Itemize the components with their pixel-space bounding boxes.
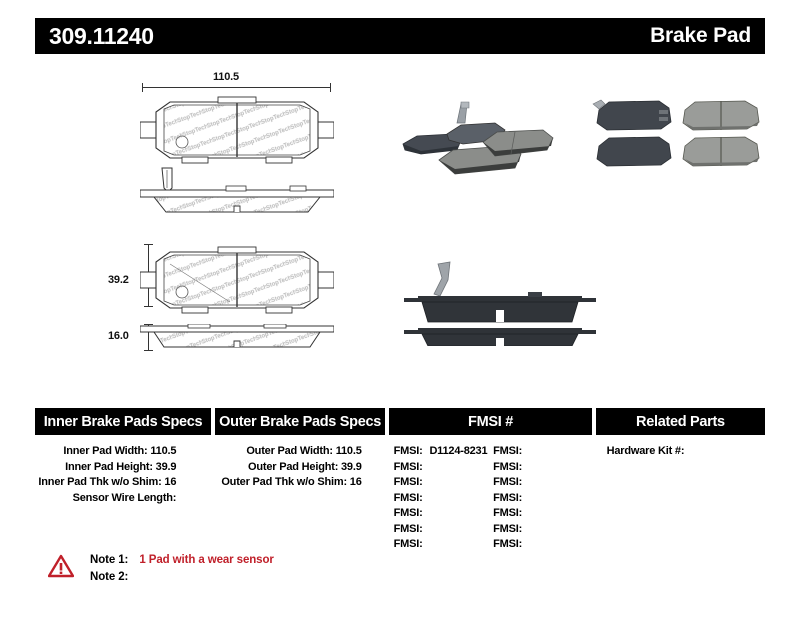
spec-label: Sensor Wire Length: xyxy=(73,492,177,504)
column-header-related-parts: Related Parts xyxy=(596,408,765,435)
fmsi-row: FMSI: D1124-8231 xyxy=(394,444,494,460)
spec-row-outer-pad-thickness: Outer Pad Thk w/o Shim: 16 xyxy=(214,475,383,491)
fmsi-label: FMSI: xyxy=(394,492,423,504)
fmsi-value xyxy=(522,523,526,535)
warning-triangle-icon xyxy=(48,554,74,578)
note-row-2: Note 2: xyxy=(90,569,274,586)
pad-side-view-with-sensor xyxy=(140,166,334,218)
brake-pad-set-angled-photo xyxy=(395,98,555,178)
fmsi-column-1: FMSI: D1124-8231 FMSI: FMSI: FMSI: xyxy=(394,444,494,553)
fmsi-value xyxy=(423,507,427,519)
note-list: Note 1: 1 Pad with a wear sensor Note 2: xyxy=(90,552,274,586)
pad-front-view xyxy=(140,244,334,318)
pad-thickness-view xyxy=(140,324,334,352)
fmsi-label: FMSI: xyxy=(394,507,423,519)
header-bar: 309.11240 Brake Pad xyxy=(35,18,765,54)
fmsi-row: FMSI: xyxy=(493,506,593,522)
fmsi-row: FMSI: xyxy=(394,460,494,476)
spec-value: 16 xyxy=(164,476,176,488)
note-value: 1 Pad with a wear sensor xyxy=(131,554,273,566)
fmsi-value xyxy=(522,538,526,550)
fmsi-row: FMSI: xyxy=(493,460,593,476)
fmsi-row: FMSI: xyxy=(493,444,593,460)
fmsi-label: FMSI: xyxy=(493,507,522,519)
fmsi-column-2: FMSI: FMSI: FMSI: FMSI: xyxy=(493,444,593,553)
fmsi-row: FMSI: xyxy=(493,522,593,538)
dimension-line-width xyxy=(142,87,330,88)
inner-specs-cell: Inner Pad Width: 110.5 Inner Pad Height:… xyxy=(35,444,210,553)
column-header-outer-specs: Outer Brake Pads Specs xyxy=(215,408,385,435)
fmsi-cell: FMSI: D1124-8231 FMSI: FMSI: FMSI: xyxy=(388,444,593,553)
fmsi-row: FMSI: xyxy=(493,475,593,491)
fmsi-label: FMSI: xyxy=(493,492,522,504)
fmsi-label: FMSI: xyxy=(394,538,423,550)
dimension-tick-left xyxy=(142,83,143,92)
spec-label: Inner Pad Width: xyxy=(63,445,147,457)
spec-value: 110.5 xyxy=(336,445,362,457)
fmsi-value xyxy=(423,461,427,473)
fmsi-columns: FMSI: D1124-8231 FMSI: FMSI: FMSI: xyxy=(388,444,593,553)
fmsi-row: FMSI: xyxy=(394,537,494,553)
spec-value: 39.9 xyxy=(341,461,362,473)
fmsi-row: FMSI: xyxy=(394,522,494,538)
figure-area: 110.5 StopTech xyxy=(0,58,800,388)
part-number: 309.11240 xyxy=(49,23,154,50)
spec-value: 39.9 xyxy=(156,461,177,473)
fmsi-value xyxy=(522,507,526,519)
fmsi-label: FMSI: xyxy=(493,445,522,457)
fmsi-label: FMSI: xyxy=(493,538,522,550)
spec-label: Outer Pad Width: xyxy=(246,445,333,457)
column-header-inner-specs: Inner Brake Pads Specs xyxy=(35,408,211,435)
note-label: Note 2: xyxy=(90,571,128,583)
dimension-label-height: 39.2 xyxy=(108,274,129,286)
fmsi-value xyxy=(522,476,526,488)
fmsi-value xyxy=(423,476,427,488)
note-label: Note 1: xyxy=(90,554,128,566)
spec-row-inner-pad-height: Inner Pad Height: 39.9 xyxy=(35,460,210,476)
spec-label: Outer Pad Height: xyxy=(248,461,338,473)
specifications-table: Inner Brake Pads Specs Outer Brake Pads … xyxy=(35,408,765,553)
fmsi-row: FMSI: xyxy=(493,491,593,507)
fmsi-value xyxy=(423,523,427,535)
spec-row-outer-pad-width: Outer Pad Width: 110.5 xyxy=(214,444,383,460)
spec-label: Outer Pad Thk w/o Shim: xyxy=(221,476,347,488)
inner-pad-top-view: StopTech xyxy=(140,94,334,168)
fmsi-value xyxy=(423,492,427,504)
brake-pad-pair-profile-photo xyxy=(400,254,600,346)
fmsi-label: FMSI: xyxy=(493,523,522,535)
note-row-1: Note 1: 1 Pad with a wear sensor xyxy=(90,552,274,569)
spec-label: Inner Pad Height: xyxy=(65,461,153,473)
fmsi-label: FMSI: xyxy=(394,445,423,457)
fmsi-row: FMSI: xyxy=(493,537,593,553)
fmsi-row: FMSI: xyxy=(394,475,494,491)
fmsi-label: FMSI: xyxy=(394,476,423,488)
fmsi-value xyxy=(522,461,526,473)
product-type-label: Brake Pad xyxy=(650,24,751,48)
spec-label: Inner Pad Thk w/o Shim: xyxy=(38,476,161,488)
note-value xyxy=(128,571,136,583)
notes-section: Note 1: 1 Pad with a wear sensor Note 2: xyxy=(48,552,274,586)
spec-row-sensor-wire-length: Sensor Wire Length: xyxy=(35,491,210,507)
column-header-fmsi: FMSI # xyxy=(389,408,592,435)
table-body-row: Inner Pad Width: 110.5 Inner Pad Height:… xyxy=(35,435,765,553)
fmsi-value xyxy=(522,492,526,504)
dimension-label-thickness: 16.0 xyxy=(108,330,129,342)
fmsi-label: FMSI: xyxy=(493,476,522,488)
related-parts-cell: Hardware Kit #: xyxy=(597,444,765,553)
fmsi-label: FMSI: xyxy=(394,461,423,473)
dimension-label-width: 110.5 xyxy=(213,71,239,83)
fmsi-label: FMSI: xyxy=(394,523,423,535)
spec-row-inner-pad-width: Inner Pad Width: 110.5 xyxy=(35,444,210,460)
spec-value: 110.5 xyxy=(150,445,176,457)
spec-row-inner-pad-thickness: Inner Pad Thk w/o Shim: 16 xyxy=(35,475,210,491)
fmsi-value xyxy=(522,445,526,457)
related-part-label: Hardware Kit #: xyxy=(607,445,685,457)
brake-pad-set-flat-photo xyxy=(585,96,765,180)
fmsi-value xyxy=(423,538,427,550)
fmsi-label: FMSI: xyxy=(493,461,522,473)
fmsi-value: D1124-8231 xyxy=(425,445,487,457)
outer-specs-cell: Outer Pad Width: 110.5 Outer Pad Height:… xyxy=(214,444,383,553)
spec-row-outer-pad-height: Outer Pad Height: 39.9 xyxy=(214,460,383,476)
table-header-row: Inner Brake Pads Specs Outer Brake Pads … xyxy=(35,408,765,435)
related-part-row-hardware-kit: Hardware Kit #: xyxy=(597,444,765,460)
spec-value: 16 xyxy=(350,476,362,488)
fmsi-row: FMSI: xyxy=(394,506,494,522)
dimension-tick-right xyxy=(330,83,331,92)
fmsi-row: FMSI: xyxy=(394,491,494,507)
